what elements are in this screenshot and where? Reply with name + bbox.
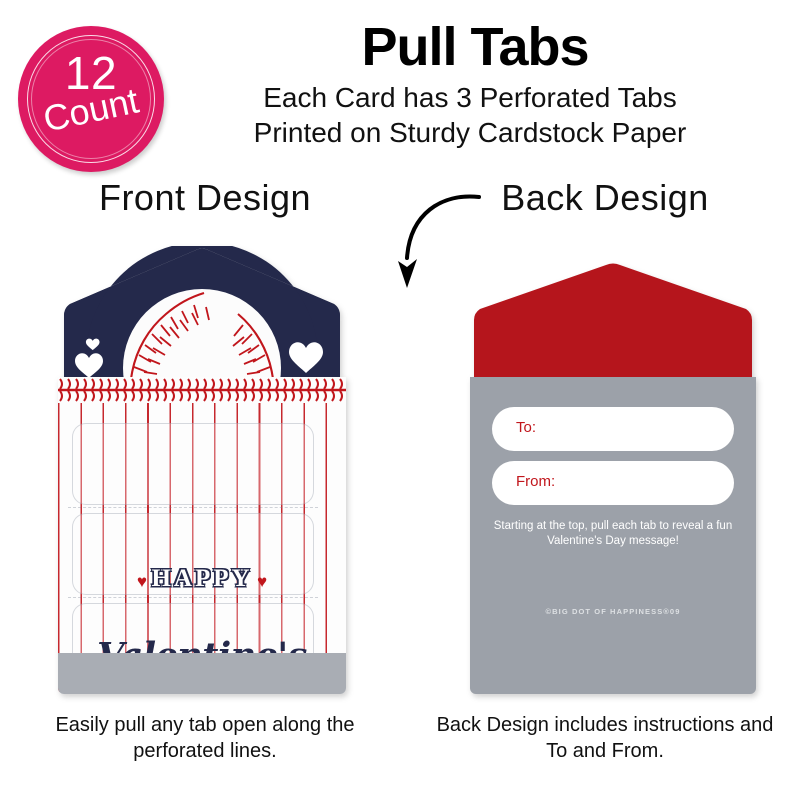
greeting-line-happy: ♥ HAPPY ♥ [58,565,346,593]
to-field[interactable]: To: [492,407,734,451]
pull-tab-1[interactable] [72,423,314,505]
subtitle-line-1: Each Card has 3 Perforated Tabs [150,82,790,113]
front-card: ♥ HAPPY ♥ Valentine's ♥ ♥ ♥ DAY ♥ [58,246,346,694]
back-instructions-text: Starting at the top, pull each tab to re… [488,519,738,549]
back-caption: Back Design includes instructions and To… [430,712,780,764]
page-title: Pull Tabs [170,18,780,76]
perforation-line-2 [68,597,318,598]
from-field[interactable]: From: [492,461,734,505]
heart-icon-left-happy: ♥ [137,572,147,591]
brand-copyright: ©BIG DOT OF HAPPINESS®09 [488,607,738,616]
count-badge: 12 Count [18,26,164,172]
perforation-line-1 [68,507,318,508]
to-label: To: [516,419,536,436]
back-card-flap [470,262,756,387]
stitch-band [58,377,346,403]
front-card-flap [58,246,346,391]
subtitle-line-2: Printed on Sturdy Cardstock Paper [150,117,790,148]
back-card-body: To: From: Starting at the top, pull each… [470,377,756,694]
heart-icon-right-happy: ♥ [257,572,267,591]
front-design-title: Front Design [60,178,350,218]
front-caption: Easily pull any tab open along the perfo… [40,712,370,764]
happy-text: HAPPY [151,565,252,592]
front-card-body: ♥ HAPPY ♥ Valentine's ♥ ♥ ♥ DAY ♥ [58,377,346,694]
back-design-title: Back Design [455,178,755,218]
from-label: From: [516,473,555,490]
front-card-bottom-strip [58,653,346,694]
back-card: To: From: Starting at the top, pull each… [470,262,756,694]
